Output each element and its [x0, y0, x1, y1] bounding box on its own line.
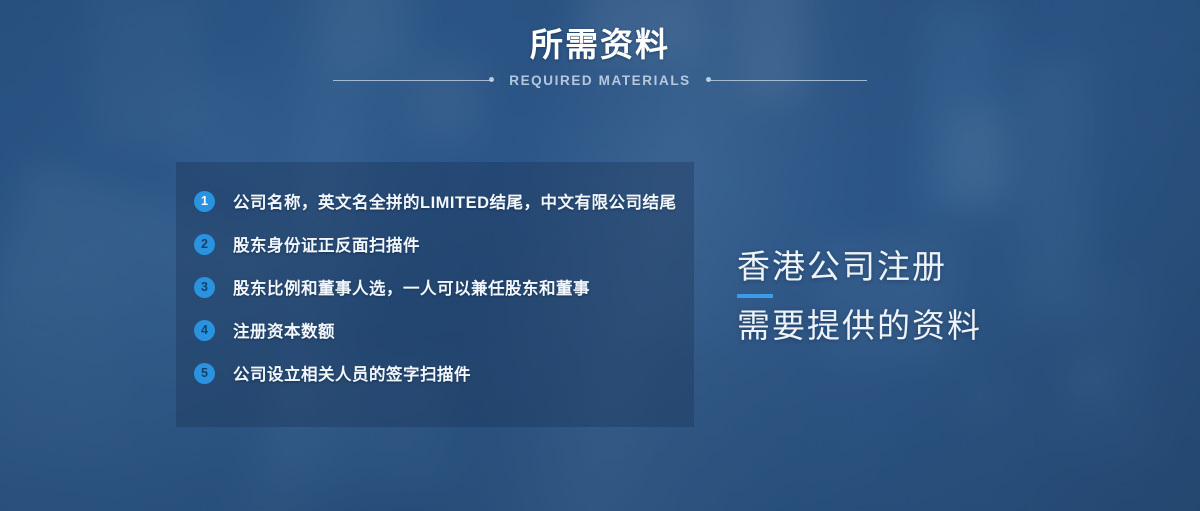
list-item-label: 公司名称，英文名全拼的LIMITED结尾，中文有限公司结尾: [233, 188, 677, 218]
subtitle-row: REQUIRED MATERIALS: [0, 73, 1200, 88]
materials-panel: 1 公司名称，英文名全拼的LIMITED结尾，中文有限公司结尾 2 股东身份证正…: [176, 162, 694, 427]
list-item-label: 股东身份证正反面扫描件: [233, 231, 420, 261]
right-heading-line-2: 需要提供的资料: [737, 305, 1157, 347]
right-heading-line-1: 香港公司注册: [737, 246, 1157, 288]
page-subtitle: REQUIRED MATERIALS: [509, 73, 691, 88]
page-title: 所需资料: [0, 26, 1200, 64]
banner-root: 所需资料 REQUIRED MATERIALS 1 公司名称，英文名全拼的LIM…: [0, 0, 1200, 511]
list-item-label: 股东比例和董事人选，一人可以兼任股东和董事: [233, 274, 590, 304]
decorative-line-left-icon: [333, 77, 493, 83]
banner-header: 所需资料 REQUIRED MATERIALS: [0, 26, 1200, 88]
decorative-line-right-icon: [707, 77, 867, 83]
list-item: 5 公司设立相关人员的签字扫描件: [194, 360, 682, 390]
list-number-badge: 3: [194, 277, 215, 298]
list-item: 1 公司名称，英文名全拼的LIMITED结尾，中文有限公司结尾: [194, 188, 682, 218]
list-item: 2 股东身份证正反面扫描件: [194, 231, 682, 261]
list-number-badge: 1: [194, 191, 215, 212]
right-heading: 香港公司注册 需要提供的资料: [737, 246, 1157, 347]
list-item: 3 股东比例和董事人选，一人可以兼任股东和董事: [194, 274, 682, 304]
list-number-badge: 5: [194, 363, 215, 384]
list-number-badge: 2: [194, 234, 215, 255]
list-item-label: 注册资本数额: [233, 317, 335, 347]
list-item: 4 注册资本数额: [194, 317, 682, 347]
list-item-label: 公司设立相关人员的签字扫描件: [233, 360, 471, 390]
accent-bar: [737, 294, 773, 298]
list-number-badge: 4: [194, 320, 215, 341]
materials-list: 1 公司名称，英文名全拼的LIMITED结尾，中文有限公司结尾 2 股东身份证正…: [194, 188, 682, 390]
